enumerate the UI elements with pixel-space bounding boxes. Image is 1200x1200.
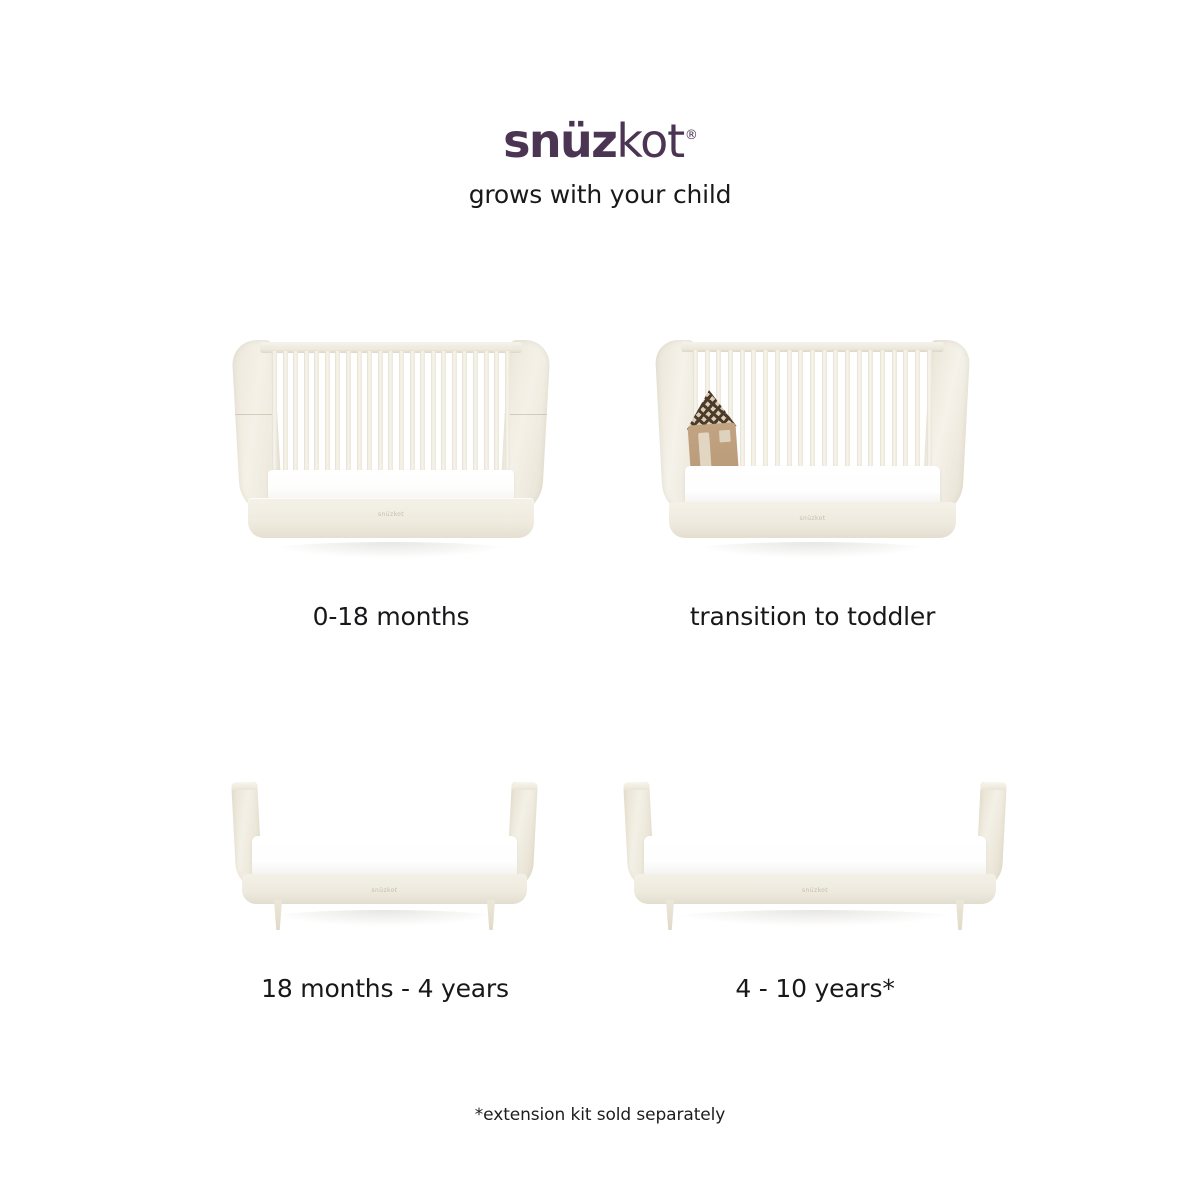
brand-name-light: kot bbox=[616, 114, 684, 168]
cot-leg-right bbox=[483, 532, 492, 566]
cot-illustration: snüzkot bbox=[232, 326, 550, 554]
stage-cot-image: snüzkot bbox=[232, 326, 550, 554]
floor-shadow bbox=[269, 910, 501, 926]
extended-front-rail: snüzkot bbox=[634, 874, 996, 904]
caption-junior: 18 months - 4 years bbox=[210, 974, 560, 1003]
tagline: grows with your child bbox=[0, 180, 1200, 209]
floor-shadow bbox=[693, 542, 932, 558]
junior-leg-right bbox=[487, 900, 495, 930]
product-brand-mark: snüzkot bbox=[634, 887, 996, 894]
registered-trademark-icon: ® bbox=[685, 128, 698, 143]
brand-logo: snüzkot® bbox=[503, 118, 697, 164]
junior-bed-illustration: snüzkot bbox=[232, 782, 537, 922]
extended-bed-illustration: snüzkot bbox=[624, 782, 1006, 922]
cot-leg-left bbox=[290, 532, 299, 566]
product-brand-mark: snüzkot bbox=[242, 887, 527, 894]
extended-leg-left bbox=[666, 900, 674, 930]
stage-junior-image: snüzkot bbox=[232, 782, 537, 922]
toddler-leg-right bbox=[903, 532, 912, 566]
stage-extended-image: snüzkot bbox=[624, 782, 1006, 922]
toddler-front-rail: snüzkot bbox=[669, 502, 956, 538]
extended-leg-right bbox=[956, 900, 964, 930]
caption-cot: 0-18 months bbox=[232, 602, 550, 631]
junior-front-rail: snüzkot bbox=[242, 874, 527, 904]
caption-transition: transition to toddler bbox=[655, 602, 970, 631]
floor-shadow bbox=[270, 542, 512, 558]
product-brand-mark: snüzkot bbox=[248, 511, 534, 518]
floor-shadow bbox=[670, 910, 960, 926]
footnote: *extension kit sold separately bbox=[0, 1105, 1200, 1125]
caption-extended: 4 - 10 years* bbox=[624, 974, 1006, 1003]
toddler-bed-illustration: snüzkot bbox=[655, 326, 970, 554]
toddler-leg-left bbox=[713, 532, 722, 566]
junior-leg-left bbox=[274, 900, 282, 930]
product-brand-mark: snüzkot bbox=[669, 515, 956, 522]
page-header: snüzkot® grows with your child bbox=[0, 0, 1200, 209]
brand-name-bold: snüz bbox=[503, 114, 616, 168]
house-cushion bbox=[684, 388, 740, 475]
stage-transition-image: snüzkot bbox=[655, 326, 970, 554]
cushion-window bbox=[719, 430, 731, 443]
